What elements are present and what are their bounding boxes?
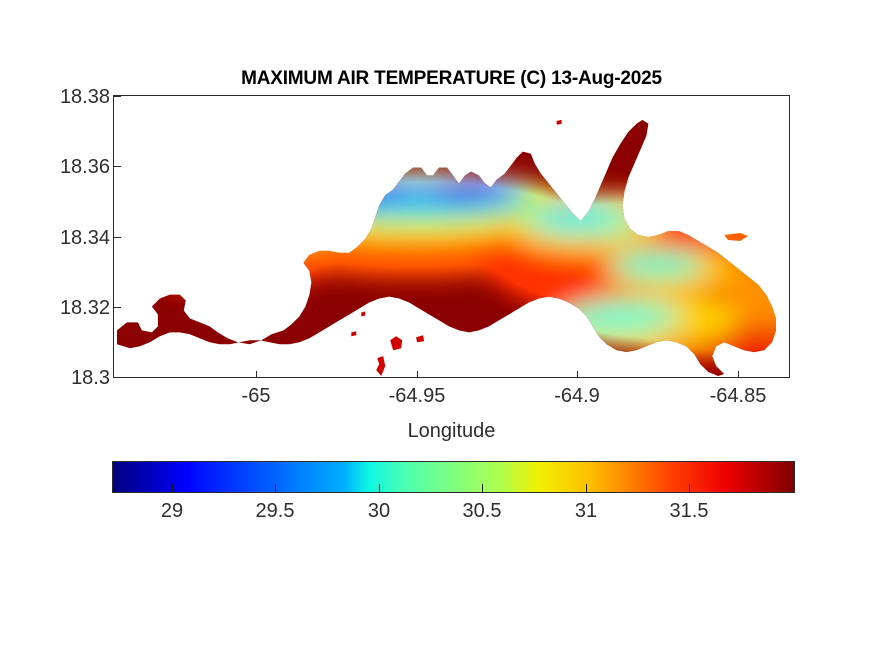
colorbar-gradient bbox=[113, 462, 794, 492]
ytick-label-18.36: 18.36 bbox=[60, 156, 110, 179]
colorbar-tick-label-31.5: 31.5 bbox=[670, 500, 709, 523]
temperature-heatmap bbox=[114, 96, 789, 377]
ytick-mark-18.3 bbox=[114, 377, 121, 378]
colorbar-tick-label-30: 30 bbox=[368, 500, 390, 523]
xtick-label--64.95: -64.95 bbox=[389, 385, 446, 408]
colorbar-tick-mark-30.5 bbox=[482, 484, 483, 492]
xtick-mark--64.95 bbox=[417, 371, 418, 378]
colorbar-tick-mark-31 bbox=[586, 484, 587, 492]
ytick-label-18.32: 18.32 bbox=[60, 297, 110, 320]
map-axes[interactable] bbox=[113, 95, 790, 378]
ytick-mark-18.32 bbox=[114, 307, 121, 308]
colorbar-tick-label-31: 31 bbox=[575, 500, 597, 523]
ytick-label-18.3: 18.3 bbox=[71, 367, 110, 390]
colorbar-tick-label-30.5: 30.5 bbox=[463, 500, 502, 523]
xtick-label--65: -65 bbox=[242, 385, 271, 408]
ytick-label-18.34: 18.34 bbox=[60, 227, 110, 250]
xtick-label--64.9: -64.9 bbox=[554, 385, 600, 408]
colorbar-tick-mark-29.5 bbox=[275, 484, 276, 492]
colorbar-tick-label-29: 29 bbox=[161, 500, 183, 523]
colorbar-tick-mark-29 bbox=[172, 484, 173, 492]
xtick-mark--64.85 bbox=[738, 371, 739, 378]
colorbar-tick-mark-30 bbox=[379, 484, 380, 492]
colorbar-tick-label-29.5: 29.5 bbox=[256, 500, 295, 523]
xtick-label--64.85: -64.85 bbox=[710, 385, 767, 408]
ytick-mark-18.38 bbox=[114, 96, 121, 97]
ytick-label-18.38: 18.38 bbox=[60, 86, 110, 109]
colorbar-tick-mark-31.5 bbox=[689, 484, 690, 492]
xtick-mark--65 bbox=[256, 371, 257, 378]
x-axis-label: Longitude bbox=[113, 420, 790, 443]
ytick-mark-18.36 bbox=[114, 166, 121, 167]
matlab-figure-window: MAXIMUM AIR TEMPERATURE (C) 13-Aug-2025 bbox=[0, 0, 875, 656]
colorbar[interactable] bbox=[112, 461, 795, 493]
ytick-mark-18.34 bbox=[114, 237, 121, 238]
temperature-field bbox=[114, 96, 789, 377]
page-title: MAXIMUM AIR TEMPERATURE (C) 13-Aug-2025 bbox=[113, 68, 790, 90]
xtick-mark--64.9 bbox=[577, 371, 578, 378]
